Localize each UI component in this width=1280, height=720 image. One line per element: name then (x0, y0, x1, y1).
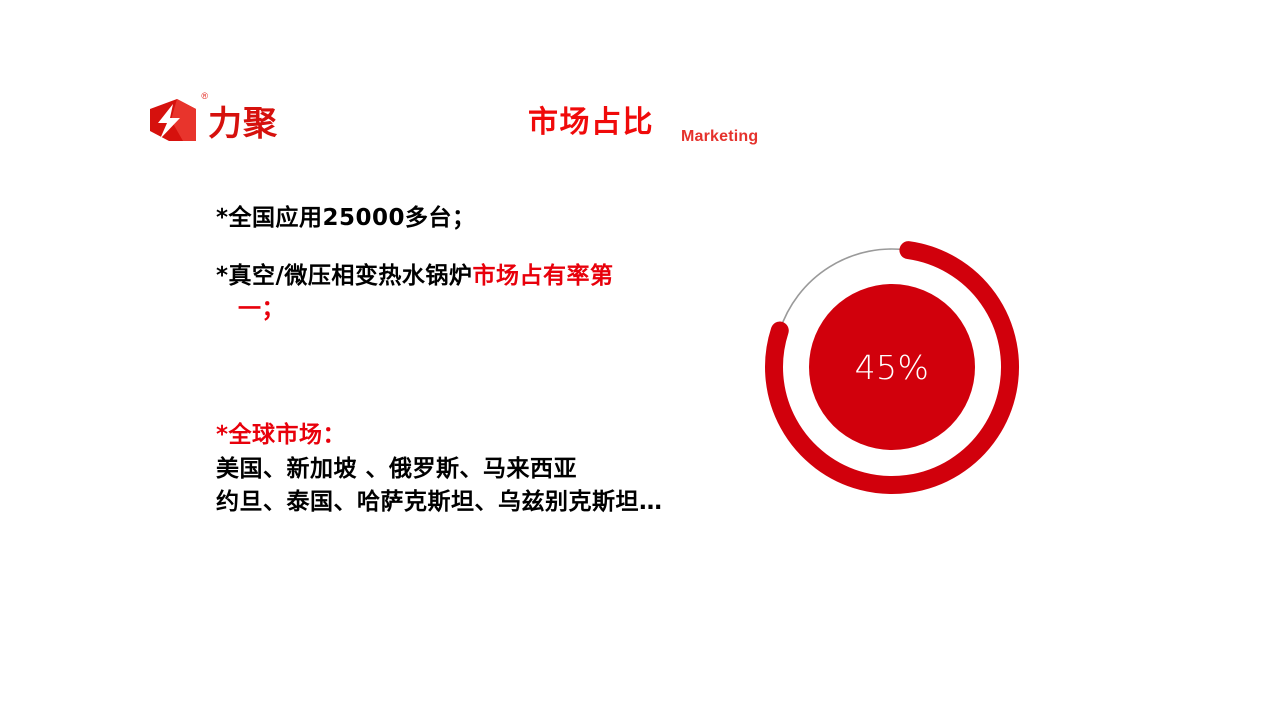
global-market-heading: *全球市场： (216, 420, 663, 451)
registered-trademark-icon: ® (201, 92, 208, 101)
logo-wordmark: 力聚 (208, 107, 278, 144)
bullet-item-installations: *全国应用25000多台； (216, 205, 736, 233)
bullet-market-share-red-wrap: 一； (216, 296, 285, 322)
page-title-en: Marketing (681, 129, 758, 145)
global-market-line-1: 美国、新加坡 、俄罗斯、马来西亚 (216, 453, 663, 486)
page-title: 市场占比 Marketing (528, 108, 758, 138)
slide-canvas: ® 力聚 市场占比 Marketing *全国应用25000多台； *真空/微压… (0, 0, 1280, 720)
global-market-block: *全球市场： 美国、新加坡 、俄罗斯、马来西亚 约旦、泰国、哈萨克斯坦、乌兹别克… (216, 420, 663, 518)
page-title-cn: 市场占比 (528, 108, 654, 138)
bullet-market-share-red: 市场占有率第 (472, 263, 613, 289)
bullet-market-share-black: *真空/微压相变热水锅炉 (216, 263, 472, 289)
body-copy: *全国应用25000多台； *真空/微压相变热水锅炉市场占有率第一； (216, 205, 736, 326)
market-share-donut-chart: 45% (757, 232, 1027, 502)
brand-logo: ® 力聚 (147, 88, 278, 144)
global-market-line-2: 约旦、泰国、哈萨克斯坦、乌兹别克斯坦… (216, 486, 663, 519)
bullet-item-market-share: *真空/微压相变热水锅炉市场占有率第一； (216, 260, 736, 327)
lightning-bolt-mark-icon: ® (147, 96, 199, 144)
donut-center-disc (809, 284, 975, 450)
